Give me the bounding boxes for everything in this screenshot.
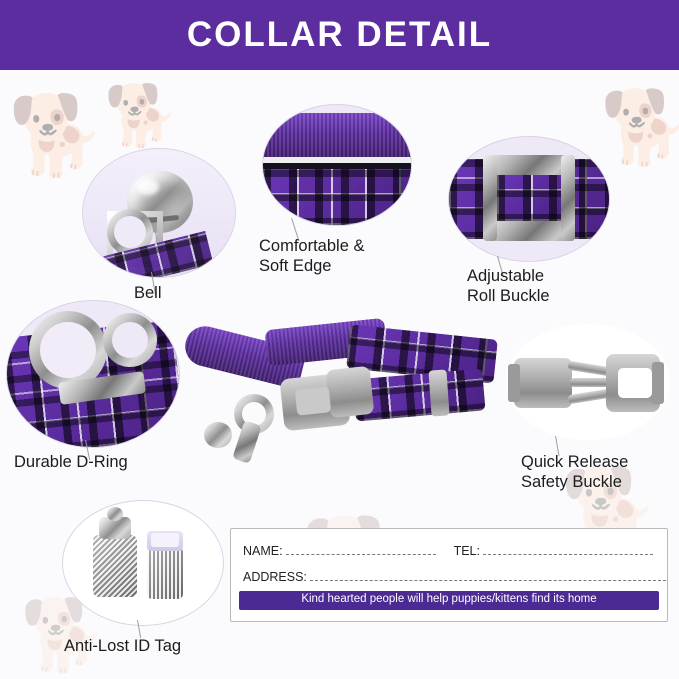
main-collar-keeper xyxy=(428,369,449,416)
product-infographic: 🐕 🐕 🐕 🐕 🐕 🐕 COLLAR DETAIL Bell Comfortab… xyxy=(0,0,679,679)
id-card-name-field[interactable] xyxy=(286,543,436,555)
id-capsule-cap-icon xyxy=(147,547,183,599)
main-collar-product xyxy=(178,318,500,458)
d-ring-photo-bubble xyxy=(6,300,180,448)
dog-silhouette-watermark: 🐕 xyxy=(600,92,679,164)
id-card-tel-field[interactable] xyxy=(483,543,653,555)
id-card-address-field[interactable] xyxy=(310,569,666,581)
id-card: NAME: TEL: ADDRESS: Kind hearted people … xyxy=(230,528,668,622)
dog-silhouette-watermark: 🐕 xyxy=(104,86,179,146)
roll-buckle-photo-bubble xyxy=(448,136,610,262)
roll-buckle-label: Adjustable Roll Buckle xyxy=(467,266,550,306)
id-card-name-row: NAME: TEL: xyxy=(243,543,653,558)
soft-edge-photo-bubble xyxy=(262,104,412,226)
bell-photo-bubble xyxy=(82,148,236,278)
main-collar-bell xyxy=(204,422,232,448)
bell-label: Bell xyxy=(134,283,162,303)
id-card-banner: Kind hearted people will help puppies/ki… xyxy=(239,591,659,610)
page-title: COLLAR DETAIL xyxy=(187,15,492,55)
id-card-address-row: ADDRESS: xyxy=(243,569,666,584)
id-card-address-label: ADDRESS: xyxy=(243,570,307,584)
d-ring-label: Durable D-Ring xyxy=(14,452,128,472)
id-tag-label: Anti-Lost ID Tag xyxy=(64,636,181,656)
id-tag-photo-bubble xyxy=(62,500,224,626)
id-capsule-body-icon xyxy=(93,535,137,597)
quick-release-photo-bubble xyxy=(506,324,670,440)
id-card-tel-label: TEL: xyxy=(440,544,480,558)
soft-edge-label: Comfortable & Soft Edge xyxy=(259,236,364,276)
main-collar-id-capsule xyxy=(232,420,261,464)
id-card-name-label: NAME: xyxy=(243,544,283,558)
quick-release-label: Quick Release Safety Buckle xyxy=(521,452,628,492)
banner-left-fill xyxy=(0,0,148,70)
